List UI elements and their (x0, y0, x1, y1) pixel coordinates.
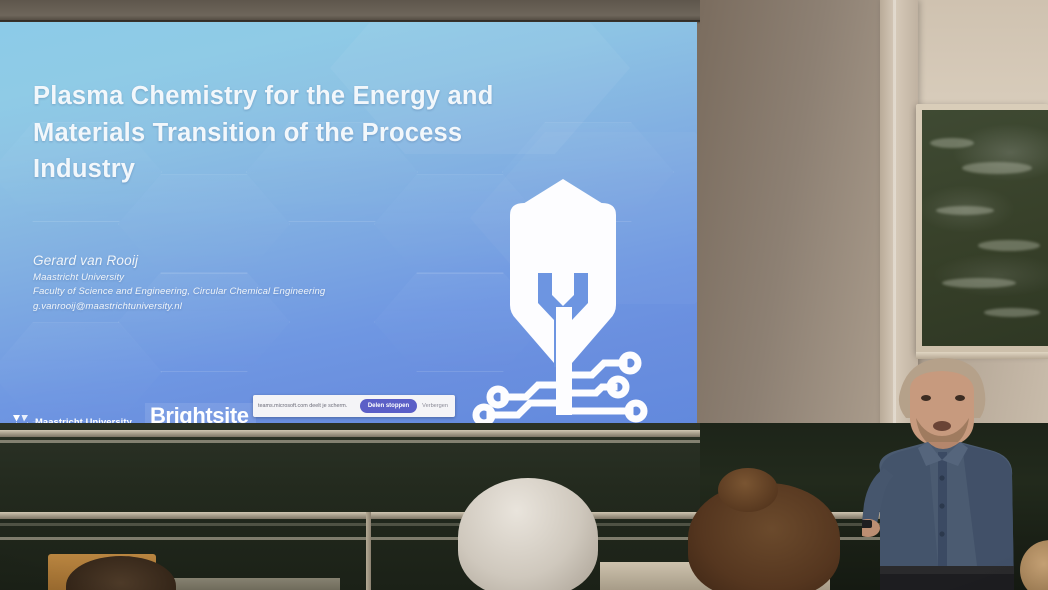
maastricht-university-logo: Maastricht University (12, 414, 132, 423)
author-department: Faculty of Science and Engineering, Circ… (33, 285, 453, 300)
brightsite-logo: Brightsite Transforming industry (145, 403, 256, 423)
chalkboard (922, 110, 1048, 346)
author-name: Gerard van Rooij (33, 251, 453, 271)
audience-head-grey (458, 478, 598, 590)
brightsite-name: Brightsite (150, 405, 249, 423)
hall-rail (0, 430, 700, 437)
slide-title: Plasma Chemistry for the Energy and Mate… (33, 78, 553, 188)
rail-post (366, 512, 371, 590)
wrench-in-hexagon-circuit-icon (468, 177, 658, 423)
hide-share-bar-button[interactable]: Verbergen (422, 403, 450, 409)
audience-hair-bun (718, 468, 778, 512)
lecture-hall-scene: Plasma Chemistry for the Energy and Mate… (0, 0, 1048, 590)
upper-wall-strip (918, 0, 1048, 108)
stop-sharing-button[interactable]: Delen stoppen (360, 399, 417, 413)
maastricht-university-label: Maastricht University (35, 416, 132, 423)
projected-slide: Plasma Chemistry for the Energy and Mate… (0, 22, 697, 423)
wall-above-screen (0, 0, 700, 22)
hall-rail-thin (0, 440, 700, 443)
teams-share-bar[interactable]: teams.microsoft.com deelt je scherm. Del… (253, 395, 455, 417)
author-block: Gerard van Rooij Maastricht University F… (33, 251, 453, 314)
desk-surface (150, 578, 340, 590)
maastricht-university-mark (12, 414, 29, 423)
author-affiliation: Maastricht University (33, 271, 453, 286)
presenter (862, 352, 1048, 590)
share-url-text: teams.microsoft.com deelt je scherm. (258, 403, 355, 409)
author-email: g.vanrooij@maastrichtuniversity.nl (33, 300, 453, 315)
slide-footer-logos: Maastricht University Brightsite Transfo… (12, 403, 256, 423)
